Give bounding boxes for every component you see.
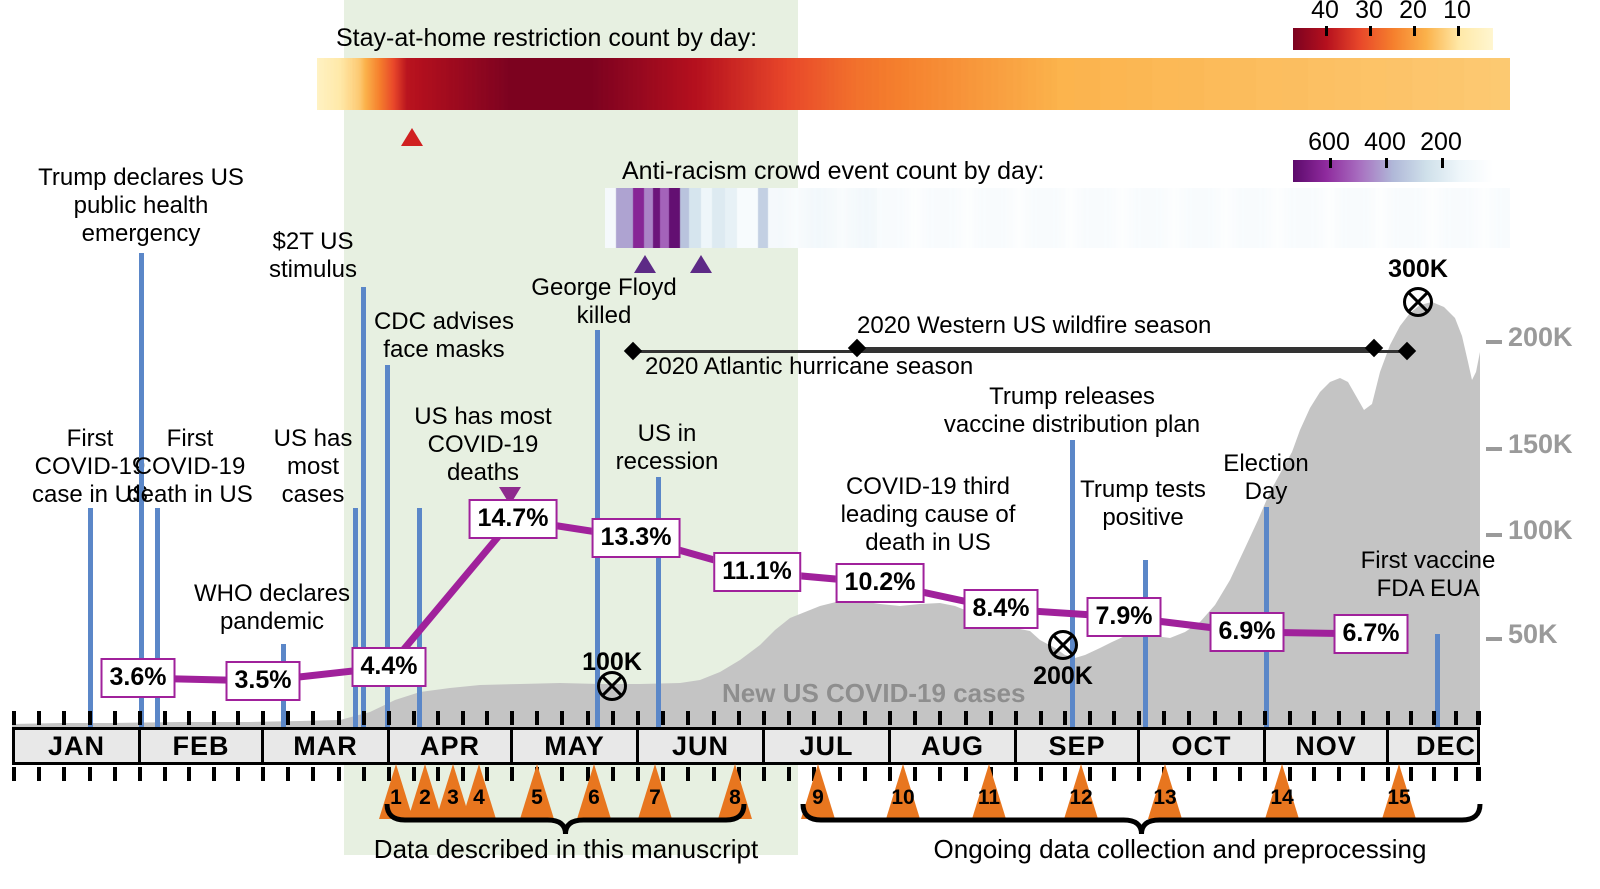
unemployment-box-9: 6.9% — [1210, 612, 1285, 652]
unemployment-box-0: 3.6% — [101, 658, 176, 698]
unemployment-box-3: 14.7% — [469, 499, 558, 539]
unemployment-box-2: 4.4% — [352, 647, 427, 687]
unemployment-box-10: 6.7% — [1334, 614, 1409, 654]
unemployment-line — [0, 0, 1600, 889]
unemployment-box-7: 8.4% — [964, 589, 1039, 629]
unemployment-box-1: 3.5% — [226, 661, 301, 701]
unemployment-box-6: 10.2% — [836, 563, 925, 603]
unemployment-box-8: 7.9% — [1087, 597, 1162, 637]
unemployment-box-5: 11.1% — [713, 552, 801, 592]
unemployment-box-4: 13.3% — [592, 518, 681, 558]
unemployment-path — [138, 519, 1371, 681]
